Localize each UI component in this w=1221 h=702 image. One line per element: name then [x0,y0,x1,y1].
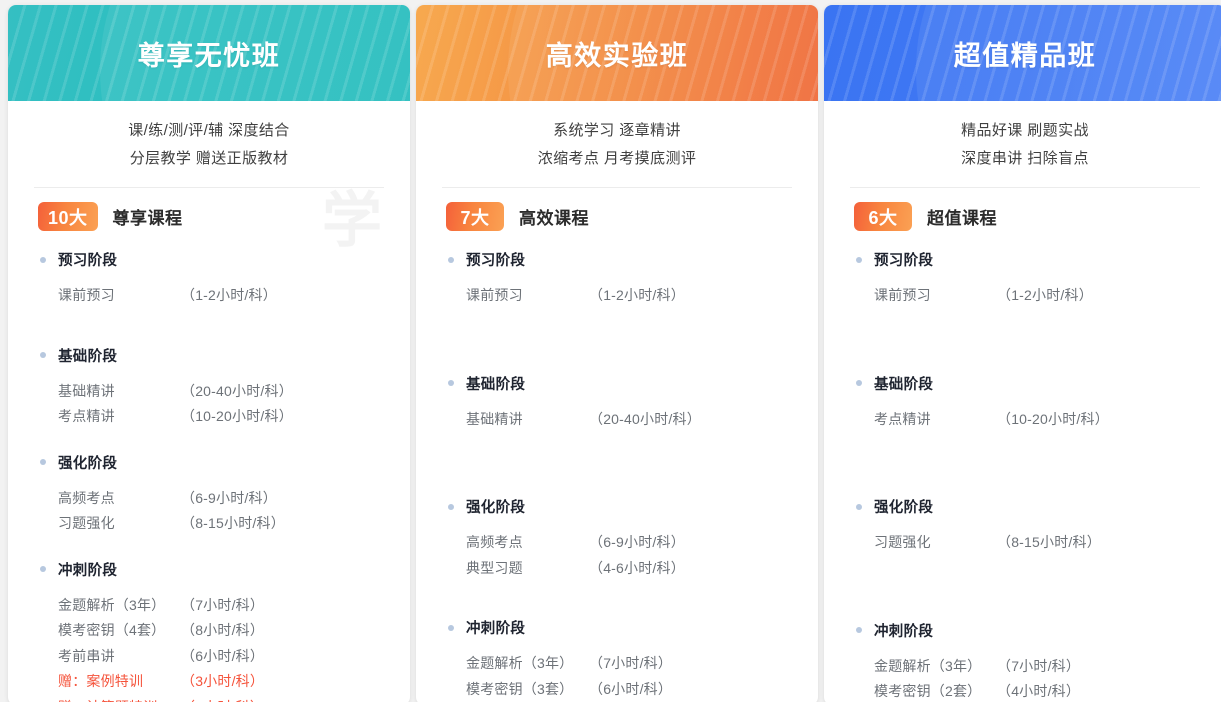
course-name: 高频考点 [466,530,589,556]
bullet-dot-icon [856,627,862,633]
stage-name: 强化阶段 [58,452,117,473]
course-row: 模考密钥（3套）（6小时/科） [416,677,818,702]
course-row: 高频考点（6-9小时/科） [8,486,410,512]
subtitle-line: 分层教学 赠送正版教材 [34,145,384,173]
stage-header: 冲刺阶段 [8,559,410,580]
stage-section: 预习阶段课前预习（1-2小时/科） [8,249,410,345]
course-hours: （8-15小时/科） [181,511,285,537]
course-row: 金题解析（3年）（7小时/科） [824,654,1221,680]
bullet-dot-icon [856,257,862,263]
stage-section: 冲刺阶段金题解析（3年）（7小时/科）模考密钥（3套）（6小时/科）考前串讲（6… [416,617,818,702]
course-row: 课前预习（1-2小时/科） [8,283,410,309]
course-hours: （6-9小时/科） [589,530,685,556]
stage-header: 基础阶段 [824,373,1221,394]
course-name: 模考密钥（3套） [466,677,589,702]
course-name: 考前串讲 [58,644,181,670]
course-count-badge: 10大 [38,202,98,231]
bullet-dot-icon [448,625,454,631]
bullet-dot-icon [40,566,46,572]
course-row: 金题解析（3年）（7小时/科） [416,651,818,677]
course-hours: （3小时/科） [181,669,264,695]
subtitle-line: 浓缩考点 月考摸底测评 [442,145,792,173]
stage-spacer [824,309,1221,373]
stage-header: 预习阶段 [8,249,410,270]
bullet-dot-icon [40,459,46,465]
stage-list: 预习阶段课前预习（1-2小时/科）基础阶段基础精讲（20-40小时/科）强化阶段… [416,231,818,702]
course-row: 考前串讲（6小时/科） [8,644,410,670]
course-hours: （1-2小时/科） [181,283,277,309]
stage-name: 预习阶段 [466,249,525,270]
stage-name: 冲刺阶段 [58,559,117,580]
course-group-label: 尊享课程 [113,204,183,229]
stage-section: 基础阶段基础精讲（20-40小时/科）考点精讲（10-20小时/科） [8,345,410,452]
course-hours: （7小时/科） [181,593,264,619]
course-hours: （7小时/科） [997,654,1080,680]
stage-section: 强化阶段高频考点（6-9小时/科）习题强化（8-15小时/科） [8,452,410,559]
subtitle-line: 课/练/测/评/辅 深度结合 [34,117,384,145]
stage-name: 预习阶段 [58,249,117,270]
subtitle-line: 深度串讲 扫除盲点 [850,145,1200,173]
course-name: 基础精讲 [58,379,181,405]
card-title: 超值精品班 [954,34,1097,73]
subtitle-line: 精品好课 刷题实战 [850,117,1200,145]
course-row: 高频考点（6-9小时/科） [416,530,818,556]
stage-header: 预习阶段 [416,249,818,270]
stage-spacer [416,581,818,617]
course-hours: （8-15小时/科） [997,530,1101,556]
course-count-badge-row: 6大超值课程 [824,188,1221,231]
stage-spacer [8,309,410,345]
stage-header: 强化阶段 [8,452,410,473]
course-count-badge-row: 7大高效课程 [416,188,818,231]
course-package-card[interactable]: 尊享无忧班课/练/测/评/辅 深度结合分层教学 赠送正版教材10大尊享课程学预习… [8,5,410,702]
bullet-dot-icon [448,380,454,386]
bullet-dot-icon [448,504,454,510]
bonus-course-row: 赠：案例特训（3小时/科） [8,669,410,695]
stage-section: 预习阶段课前预习（1-2小时/科） [824,249,1221,373]
course-package-board: 尊享无忧班课/练/测/评/辅 深度结合分层教学 赠送正版教材10大尊享课程学预习… [0,0,1221,702]
course-package-card[interactable]: 超值精品班精品好课 刷题实战深度串讲 扫除盲点6大超值课程预习阶段课前预习（1-… [824,5,1221,702]
bullet-dot-icon [856,380,862,386]
course-hours: （6小时/科） [589,677,672,702]
stage-name: 基础阶段 [58,345,117,366]
stage-name: 冲刺阶段 [874,620,933,641]
course-hours: （4-6小时/科） [589,556,685,582]
course-row: 基础精讲（20-40小时/科） [8,379,410,405]
stage-list: 预习阶段课前预习（1-2小时/科）基础阶段考点精讲（10-20小时/科）强化阶段… [824,231,1221,702]
course-hours: （1-2小时/科） [589,283,685,309]
stage-section: 冲刺阶段金题解析（3年）（7小时/科）模考密钥（2套）（4小时/科）考前串讲（6… [824,620,1221,702]
card-title: 高效实验班 [546,34,689,73]
course-hours: （1-2小时/科） [997,283,1093,309]
course-name: 高频考点 [58,486,181,512]
stage-header: 预习阶段 [824,249,1221,270]
course-count-badge: 6大 [854,202,912,231]
stage-name: 预习阶段 [874,249,933,270]
stage-section: 冲刺阶段金题解析（3年）（7小时/科）模考密钥（4套）（8小时/科）考前串讲（6… [8,559,410,702]
course-hours: （2小时/科） [181,695,264,702]
bullet-dot-icon [448,257,454,263]
stage-section: 基础阶段考点精讲（10-20小时/科） [824,373,1221,497]
course-row: 模考密钥（2套）（4小时/科） [824,679,1221,702]
stage-name: 冲刺阶段 [466,617,525,638]
stage-spacer [8,430,410,452]
course-name: 考点精讲 [874,407,997,433]
course-group-label: 超值课程 [927,204,997,229]
stage-name: 基础阶段 [466,373,525,394]
stage-spacer [416,432,818,496]
bonus-course-row: 赠：计算题特训（2小时/科） [8,695,410,702]
course-row: 考点精讲（10-20小时/科） [824,407,1221,433]
card-subtitle: 系统学习 逐章精讲浓缩考点 月考摸底测评 [416,101,818,173]
stage-header: 强化阶段 [824,496,1221,517]
course-name: 赠：案例特训 [58,669,181,695]
stage-section: 预习阶段课前预习（1-2小时/科） [416,249,818,373]
course-hours: （7小时/科） [589,651,672,677]
bullet-dot-icon [40,352,46,358]
stage-header: 冲刺阶段 [824,620,1221,641]
course-count-badge-row: 10大尊享课程 [8,188,410,231]
course-name: 习题强化 [58,511,181,537]
course-row: 典型习题（4-6小时/科） [416,556,818,582]
stage-spacer [824,432,1221,496]
stage-list: 预习阶段课前预习（1-2小时/科）基础阶段基础精讲（20-40小时/科）考点精讲… [8,231,410,702]
card-subtitle: 精品好课 刷题实战深度串讲 扫除盲点 [824,101,1221,173]
stage-name: 强化阶段 [466,496,525,517]
course-name: 模考密钥（4套） [58,618,181,644]
stage-name: 强化阶段 [874,496,933,517]
course-name: 基础精讲 [466,407,589,433]
card-subtitle: 课/练/测/评/辅 深度结合分层教学 赠送正版教材 [8,101,410,173]
stage-header: 基础阶段 [8,345,410,366]
stage-section: 基础阶段基础精讲（20-40小时/科） [416,373,818,497]
course-hours: （6小时/科） [181,644,264,670]
card-header: 高效实验班 [416,5,818,101]
card-header: 尊享无忧班 [8,5,410,101]
course-hours: （8小时/科） [181,618,264,644]
stage-header: 强化阶段 [416,496,818,517]
course-row: 课前预习（1-2小时/科） [824,283,1221,309]
course-name: 金题解析（3年） [58,593,181,619]
course-row: 金题解析（3年）（7小时/科） [8,593,410,619]
course-name: 考点精讲 [58,404,181,430]
stage-spacer [416,309,818,373]
course-hours: （20-40小时/科） [589,407,701,433]
stage-spacer [8,537,410,559]
course-package-card[interactable]: 高效实验班系统学习 逐章精讲浓缩考点 月考摸底测评7大高效课程预习阶段课前预习（… [416,5,818,702]
stage-spacer [824,556,1221,620]
card-header: 超值精品班 [824,5,1221,101]
course-row: 基础精讲（20-40小时/科） [416,407,818,433]
card-title: 尊享无忧班 [138,34,281,73]
course-count-badge: 7大 [446,202,504,231]
course-row: 习题强化（8-15小时/科） [824,530,1221,556]
stage-header: 基础阶段 [416,373,818,394]
course-name: 模考密钥（2套） [874,679,997,702]
course-group-label: 高效课程 [519,204,589,229]
bullet-dot-icon [40,257,46,263]
course-row: 模考密钥（4套）（8小时/科） [8,618,410,644]
bullet-dot-icon [856,504,862,510]
course-hours: （20-40小时/科） [181,379,293,405]
stage-section: 强化阶段高频考点（6-9小时/科）典型习题（4-6小时/科） [416,496,818,617]
course-name: 课前预习 [58,283,181,309]
course-name: 金题解析（3年） [874,654,997,680]
stage-header: 冲刺阶段 [416,617,818,638]
course-name: 习题强化 [874,530,997,556]
course-row: 习题强化（8-15小时/科） [8,511,410,537]
course-hours: （4小时/科） [997,679,1080,702]
course-hours: （6-9小时/科） [181,486,277,512]
course-hours: （10-20小时/科） [181,404,293,430]
subtitle-line: 系统学习 逐章精讲 [442,117,792,145]
course-name: 赠：计算题特训 [58,695,181,702]
course-hours: （10-20小时/科） [997,407,1109,433]
course-name: 课前预习 [874,283,997,309]
stage-name: 基础阶段 [874,373,933,394]
course-name: 金题解析（3年） [466,651,589,677]
course-name: 课前预习 [466,283,589,309]
course-name: 典型习题 [466,556,589,582]
course-row: 课前预习（1-2小时/科） [416,283,818,309]
course-row: 考点精讲（10-20小时/科） [8,404,410,430]
stage-section: 强化阶段习题强化（8-15小时/科） [824,496,1221,620]
